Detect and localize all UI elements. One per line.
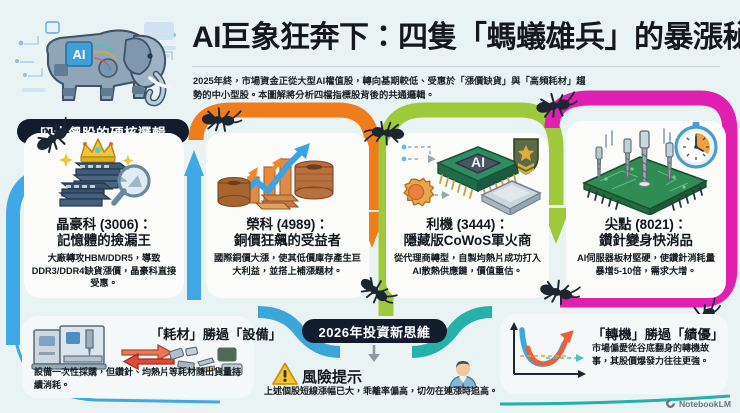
risk-body: 上述個股短線漲幅已大，乖離率偏高，切勿在連漲時追高。 — [253, 385, 509, 397]
ai-chip-illustration: AI — [386, 133, 549, 215]
ai-elephant-illustration: AI — [4, 2, 186, 117]
watermark-label: NotebookLM — [679, 399, 731, 409]
infographic-canvas: AI AI巨象狂奔下：四隻「螞蟻雄兵」的暴漲秘密 2025年終，市場資金正從大型… — [0, 0, 740, 413]
memory-crown-illustration — [24, 133, 184, 215]
stock-card-4989[interactable]: 榮科 (4989)：銅價狂飆的受益者 國際銅價大漲，使其低價庫存產生巨大利益，並… — [206, 133, 369, 298]
stock-card-8021[interactable]: 尖點 (8021)：鑽針變身快消品 AI伺服器板材堅硬，使鑽針消耗量暴增5-10… — [566, 121, 726, 298]
drill-pcb-illustration — [566, 121, 726, 215]
svg-text:AI: AI — [73, 47, 86, 62]
card-description: AI伺服器板材堅硬，使鑽針消耗量暴增5-10倍，需求大增。 — [566, 252, 726, 277]
svg-text:AI: AI — [471, 154, 485, 170]
advisor-person-icon — [448, 360, 478, 388]
notebooklm-watermark: NotebookLM — [665, 398, 731, 409]
page-subtitle: 2025年終，市場資金正從大型AI權值股，轉向基期較低、受惠於「漲價缺貨」與「高… — [193, 74, 593, 102]
panel-turnaround-over-bluechip: 「轉機」勝過「績優」 市場偏愛從谷底翻身的轉機故事，其股價爆發力往往更強。 — [500, 314, 728, 394]
card-title: 尖點 (8021)：鑽針變身快消品 — [566, 217, 726, 249]
risk-heading: 風險提示 — [302, 366, 362, 387]
card-title: 榮科 (4989)：銅價狂飆的受益者 — [206, 217, 369, 249]
stock-card-3006[interactable]: 晶豪科 (3006)：記憶體的撿漏王 大廠轉攻HBM/DDR5，導致DDR3/D… — [24, 133, 184, 298]
card-description: 從代理商轉型，自製均熱片成功打入AI散熱供應鏈，價值重估。 — [386, 252, 549, 277]
ant-icon — [201, 107, 242, 132]
panel-body: 市場偏愛從谷底翻身的轉機故事，其股價爆發力往往更強。 — [592, 342, 718, 367]
panel-body: 設備一次性採購，但鑽針、均熱片等耗材隨出貨量持續消耗。 — [34, 366, 246, 391]
copper-chart-illustration — [206, 133, 369, 215]
card-title: 利機 (3444)：隱藏版CoWoS軍火商 — [386, 217, 549, 249]
card-description: 大廠轉攻HBM/DDR5，導致DDR3/DDR4缺貨漲價，晶豪科直接受惠。 — [24, 252, 184, 290]
badge-2026-mindset: 2026年投資新思維 — [302, 319, 447, 343]
panel-heading: 「耗材」勝過「設備」 — [150, 324, 282, 343]
down-arrow-icon — [366, 345, 382, 363]
title-divider — [192, 66, 720, 67]
u-shape-recovery-chart — [506, 322, 590, 384]
notebooklm-icon — [665, 398, 676, 409]
card-description: 國際銅價大漲，使其低價庫存產生巨大利益，並搭上補漲題材。 — [206, 252, 369, 277]
warning-triangle-icon — [272, 362, 298, 386]
card-title: 晶豪科 (3006)：記憶體的撿漏王 — [24, 217, 184, 249]
panel-heading: 「轉機」勝過「績優」 — [592, 324, 724, 343]
stock-card-3444[interactable]: AI — [386, 133, 549, 298]
page-title: AI巨象狂奔下：四隻「螞蟻雄兵」的暴漲秘密 — [192, 16, 732, 60]
panel-consumables-over-equipment: 「耗材」勝過「設備」 設備一次性採購，但鑽針、均熱片等耗材隨出貨量持續消耗。 — [22, 316, 254, 398]
